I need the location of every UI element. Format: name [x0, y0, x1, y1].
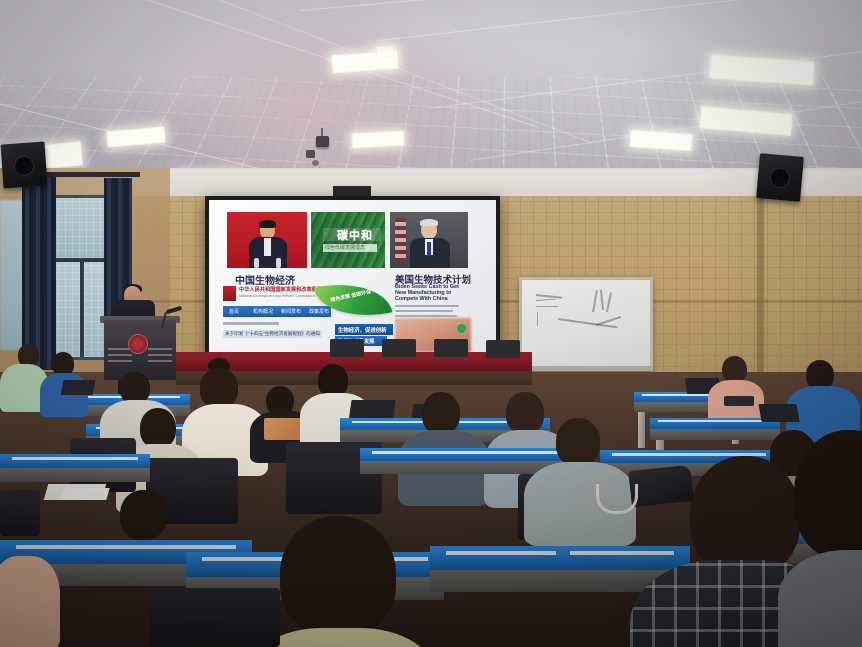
slide-center-banner-text: 碳中和	[337, 227, 373, 243]
slide-caption-left: 中国生物经济	[235, 272, 295, 287]
ceiling-light-panel	[352, 131, 405, 149]
ceiling-rail	[380, 0, 862, 41]
figure-shirt	[264, 238, 271, 256]
nav-item-3[interactable]: 政策发布	[309, 308, 329, 315]
notebook-icon[interactable]	[60, 488, 109, 500]
doc-line-placeholder	[223, 322, 279, 325]
whiteboard-marking	[537, 312, 545, 326]
shirt-graphic	[264, 418, 304, 440]
speaker-cone	[769, 167, 791, 189]
curtain-left[interactable]	[22, 175, 56, 370]
lecture-hall-photo: 碳中和 绿色低碳发展理念 中国生物经济 美国生物技术计划 中华人民共和国国家发展…	[0, 0, 862, 647]
blue-banner-left: 生物经济，促进创新	[335, 324, 393, 335]
shirt-graphic	[724, 396, 754, 406]
whiteboard-marking	[606, 292, 612, 312]
whiteboard-marking	[536, 299, 556, 302]
stage-chair[interactable]	[434, 339, 468, 357]
slide-center-sub-text: 绿色低碳发展理念	[325, 244, 365, 251]
student-head	[120, 490, 166, 540]
leaf-logo-icon: 绿色发展 低碳环保	[314, 273, 393, 327]
speaker-icon	[1, 142, 48, 189]
desk-leg	[638, 412, 645, 448]
national-emblem-icon	[223, 286, 236, 301]
flag-icon	[395, 218, 406, 262]
nav-item-1[interactable]: 机构概况	[253, 308, 273, 315]
slide-photo-right	[390, 212, 468, 268]
student-head	[506, 392, 544, 434]
whiteboard-marking	[536, 294, 562, 298]
projector-icon	[316, 136, 329, 147]
podium-stripe	[148, 360, 172, 362]
desk-inlay	[16, 545, 236, 549]
desk-inlay	[658, 420, 770, 422]
desk-inlay	[446, 551, 556, 555]
blue-banner-left-text: 生物经济，促进创新	[338, 326, 387, 334]
student-head	[140, 408, 176, 448]
desk-front-panel	[650, 429, 780, 440]
slide-photo-left	[227, 212, 307, 268]
leaf-logo-text: 绿色发展 低碳环保	[330, 287, 379, 305]
whiteboard-marking	[596, 316, 621, 325]
stage-chair[interactable]	[330, 339, 364, 357]
student-head	[690, 456, 800, 576]
bag-icon[interactable]	[628, 465, 693, 507]
desk-inlay	[372, 451, 574, 454]
smoke-detector-icon	[312, 160, 319, 166]
nav-item-0[interactable]: 首页	[229, 308, 239, 315]
student-torso	[0, 556, 60, 647]
projector-body	[306, 150, 315, 158]
podium-stripe	[108, 354, 132, 356]
student-head	[200, 368, 238, 408]
bullet-line	[395, 315, 457, 317]
laptop-icon[interactable]	[758, 404, 799, 422]
english-headline-block: Biden Seeks Cash to Get New Manufacturin…	[395, 284, 471, 322]
gov-nav-bar[interactable]: 首页 机构概况 新闻发布 政策发布	[223, 306, 331, 317]
slide-badge-icon	[457, 324, 466, 333]
whiteboard-pen-tray	[519, 366, 653, 371]
desk-front-panel	[0, 468, 150, 482]
podium-stripe	[148, 354, 172, 356]
student-head	[280, 516, 396, 636]
student-head	[422, 392, 460, 434]
stage-chair[interactable]	[382, 339, 416, 357]
slide-surface: 碳中和 绿色低碳发展理念 中国生物经济 美国生物技术计划 中华人民共和国国家发展…	[209, 200, 496, 354]
whiteboard-marking	[592, 290, 598, 312]
ceiling-rail	[300, 0, 728, 11]
english-line-2: Compete With China	[395, 296, 471, 302]
bag-handle	[596, 484, 638, 514]
speaker-icon	[756, 153, 804, 202]
nav-item-2[interactable]: 新闻发布	[281, 308, 301, 315]
desk-inlay	[12, 457, 138, 460]
laptop-icon[interactable]	[61, 380, 96, 395]
microphone-icon	[254, 258, 259, 268]
whiteboard-icon[interactable]	[519, 277, 653, 370]
figure-hair	[420, 219, 438, 226]
chair-back[interactable]	[150, 588, 280, 647]
speaker-cone	[13, 155, 34, 176]
whiteboard-marking	[600, 290, 604, 310]
podium-stripe	[108, 360, 132, 362]
microphone-icon	[276, 258, 281, 268]
university-crest-icon	[128, 334, 148, 354]
ceiling-light-panel	[376, 45, 395, 58]
chair-back[interactable]	[0, 490, 40, 536]
student-head	[556, 418, 600, 466]
student-head	[722, 356, 747, 383]
desk-inlay	[570, 551, 674, 555]
stage-chair[interactable]	[486, 340, 520, 358]
podium-stripe	[148, 348, 172, 350]
bullet-line	[395, 305, 459, 307]
gov-site-name-en: National Development and Reform Commissi…	[239, 294, 315, 298]
bullet-line	[395, 310, 453, 312]
desk-row-c-left	[0, 454, 150, 482]
projection-screen[interactable]: 碳中和 绿色低碳发展理念 中国生物经济 美国生物技术计划 中华人民共和国国家发展…	[205, 196, 500, 358]
figure-hair	[259, 220, 276, 228]
gov-doc-line: 关于印发《“十四五”生物经济发展规划》的通知	[223, 330, 322, 338]
whiteboard-marking	[536, 306, 558, 307]
desk-surface	[430, 546, 690, 570]
figure-tie	[427, 242, 431, 256]
slide-photo-center: 碳中和 绿色低碳发展理念	[311, 212, 385, 268]
